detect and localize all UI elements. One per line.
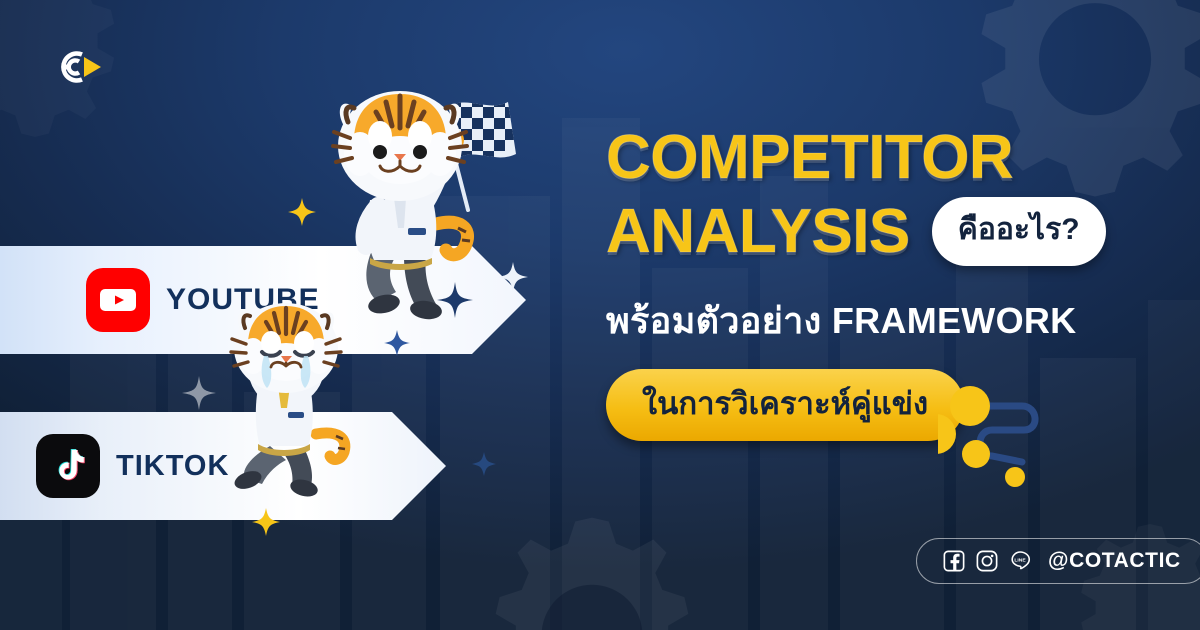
headline-content-block: COMPETITOR ANALYSIS คืออะไร? พร้อมตัวอย่…	[606, 128, 1166, 441]
line-icon[interactable]: LINE	[1009, 550, 1031, 572]
social-handle-text: @COTACTIC	[1048, 549, 1181, 573]
subheading-line: พร้อมตัวอย่าง FRAMEWORK	[606, 292, 1166, 349]
instagram-icon[interactable]	[976, 550, 998, 572]
tiger-with-checkered-flag-mascot	[300, 78, 550, 328]
tiger-crying-running-mascot	[212, 296, 392, 526]
subheading-yellow-pill: ในการวิเคราะห์คู่แข่ง	[606, 369, 964, 441]
svg-text:LINE: LINE	[1014, 558, 1026, 564]
headline-line-2: ANALYSIS	[606, 202, 910, 263]
yellow-dots-connector-graphic	[938, 382, 1068, 494]
social-handle-badge[interactable]: LINE @COTACTIC	[916, 538, 1200, 584]
question-pill-badge: คืออะไร?	[932, 197, 1106, 266]
sparkle-gray-mid-left	[182, 376, 216, 410]
gear-decoration-bottom-center	[452, 512, 732, 630]
facebook-icon[interactable]	[943, 550, 965, 572]
cotactic-logo[interactable]	[38, 44, 118, 90]
promo-banner: YOUTUBE TIKTOK	[0, 0, 1200, 630]
headline-line-1: COMPETITOR	[606, 128, 1166, 189]
